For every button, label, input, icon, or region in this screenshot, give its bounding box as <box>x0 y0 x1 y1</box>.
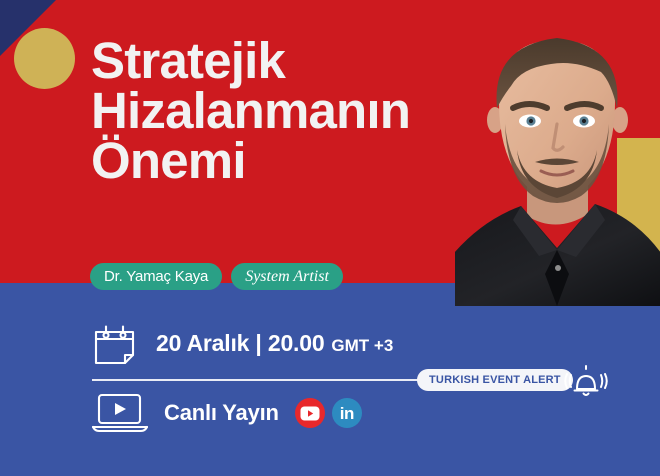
headline-line-3: Önemi <box>91 136 461 186</box>
event-date-text: 20 Aralık | 20.00 GMT +3 <box>156 330 393 357</box>
poster-headline: Stratejik Hizalanmanın Önemi <box>91 36 461 186</box>
webinar-announcement-poster: Stratejik Hizalanmanın Önemi Dr. Yamaç K… <box>0 0 660 476</box>
bell-ringing-icon <box>562 362 610 402</box>
laptop-play-icon <box>92 392 148 434</box>
event-timezone: GMT +3 <box>331 336 393 356</box>
gold-circle-shape <box>14 28 75 89</box>
headline-line-1: Stratejik <box>91 36 461 86</box>
calendar-icon <box>92 321 137 366</box>
live-stream-label: Canlı Yayın <box>164 400 279 426</box>
speaker-name-badge: Dr. Yamaç Kaya <box>90 263 222 290</box>
event-date-main: 20 Aralık | 20.00 <box>156 330 324 357</box>
social-links: in <box>295 398 362 428</box>
speaker-role-badge: System Artist <box>231 263 343 290</box>
live-stream-row: Canlı Yayın in <box>92 392 362 434</box>
event-date-row: 20 Aralık | 20.00 GMT +3 <box>92 321 393 366</box>
linkedin-label: in <box>340 405 354 422</box>
headline-line-2: Hizalanmanın <box>91 86 461 136</box>
youtube-icon[interactable] <box>295 398 325 428</box>
speaker-badges: Dr. Yamaç Kaya System Artist <box>90 263 343 290</box>
linkedin-icon[interactable]: in <box>332 398 362 428</box>
horizontal-divider <box>92 379 425 381</box>
event-alert-badge: TURKISH EVENT ALERT <box>417 369 573 391</box>
speaker-portrait-photo <box>455 16 660 306</box>
